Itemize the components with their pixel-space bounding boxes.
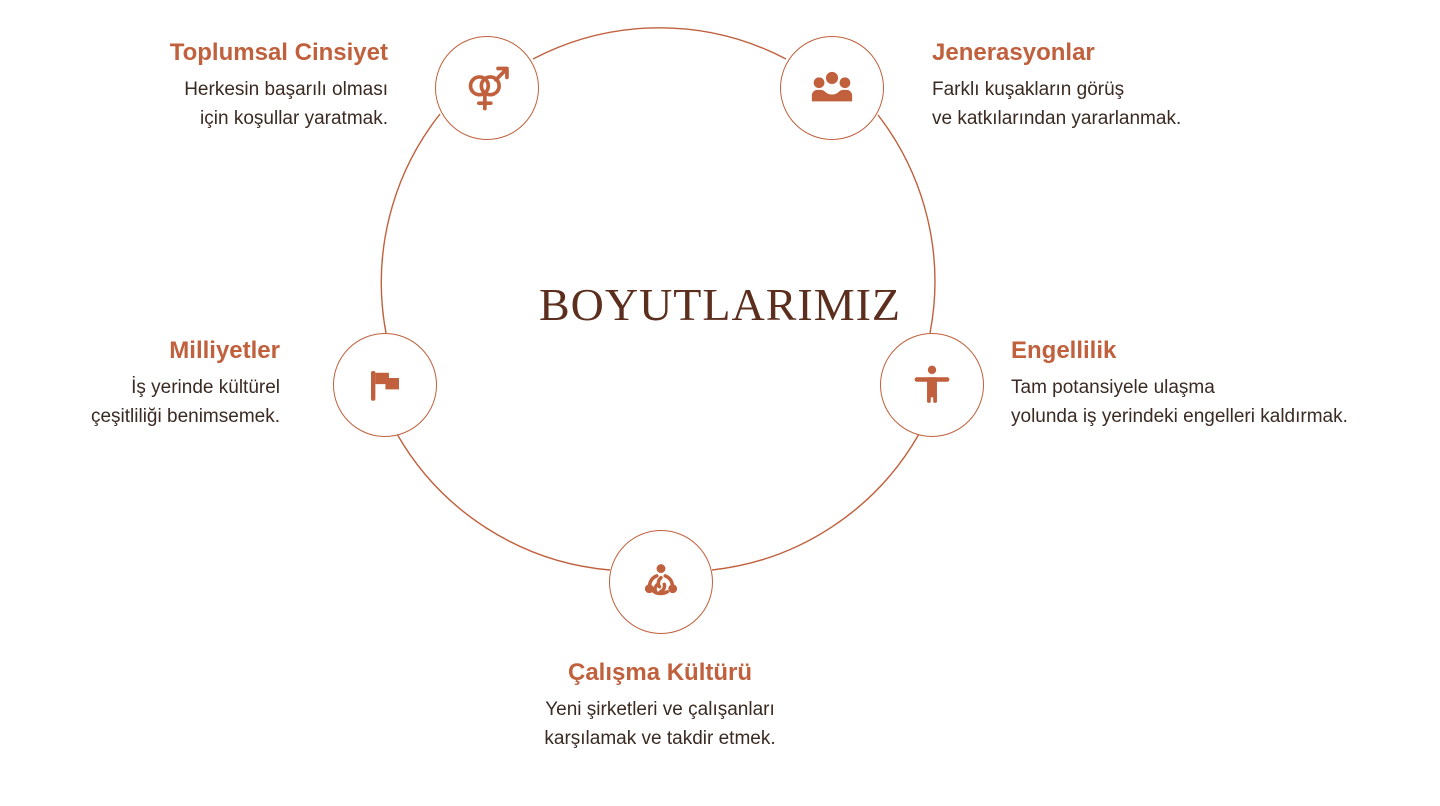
label-block-engellilik: Engellilik Tam potansiyele ulaşma yolund… (1011, 336, 1411, 432)
node-heading-milliyetler: Milliyetler (20, 336, 280, 366)
label-block-calisma-kulturu: Çalışma Kültürü Yeni şirketleri ve çalış… (470, 658, 850, 754)
node-description-jenerasyonlar: Farklı kuşakların görüş ve katkılarından… (932, 75, 1352, 134)
node-engellilik[interactable] (880, 333, 984, 437)
arc-top (533, 28, 786, 59)
gender-symbol-icon (461, 62, 513, 114)
node-description-toplumsal-cinsiyet: Herkesin başarılı olması için koşullar y… (40, 75, 388, 134)
node-jenerasyonlar[interactable] (780, 36, 884, 140)
node-description-calisma-kulturu: Yeni şirketleri ve çalışanları karşılama… (470, 695, 850, 754)
accessibility-person-icon (910, 363, 954, 407)
node-heading-engellilik: Engellilik (1011, 336, 1411, 366)
node-description-milliyetler: İş yerinde kültürel çeşitliliği benimsem… (20, 373, 280, 432)
label-block-jenerasyonlar: Jenerasyonlar Farklı kuşakların görüş ve… (932, 38, 1352, 134)
arc-lower-left (397, 434, 610, 570)
label-block-toplumsal-cinsiyet: Toplumsal Cinsiyet Herkesin başarılı olm… (40, 38, 388, 134)
node-milliyetler[interactable] (333, 333, 437, 437)
node-heading-calisma-kulturu: Çalışma Kültürü (470, 658, 850, 688)
node-description-engellilik: Tam potansiyele ulaşma yolunda iş yerind… (1011, 373, 1411, 432)
arc-lower-right (712, 434, 919, 570)
diagram-canvas: BOYUTLARIMIZ Toplumsal Cinsiyet Herkesin… (0, 0, 1440, 806)
flag-icon (364, 364, 406, 406)
page-title: BOYUTLARIMIZ (0, 278, 1440, 331)
node-heading-toplumsal-cinsiyet: Toplumsal Cinsiyet (40, 38, 388, 68)
collaboration-circle-icon (638, 559, 684, 605)
label-block-milliyetler: Milliyetler İş yerinde kültürel çeşitlil… (20, 336, 280, 432)
node-calisma-kulturu[interactable] (609, 530, 713, 634)
node-toplumsal-cinsiyet[interactable] (435, 36, 539, 140)
people-group-icon (809, 65, 855, 111)
node-heading-jenerasyonlar: Jenerasyonlar (932, 38, 1352, 68)
